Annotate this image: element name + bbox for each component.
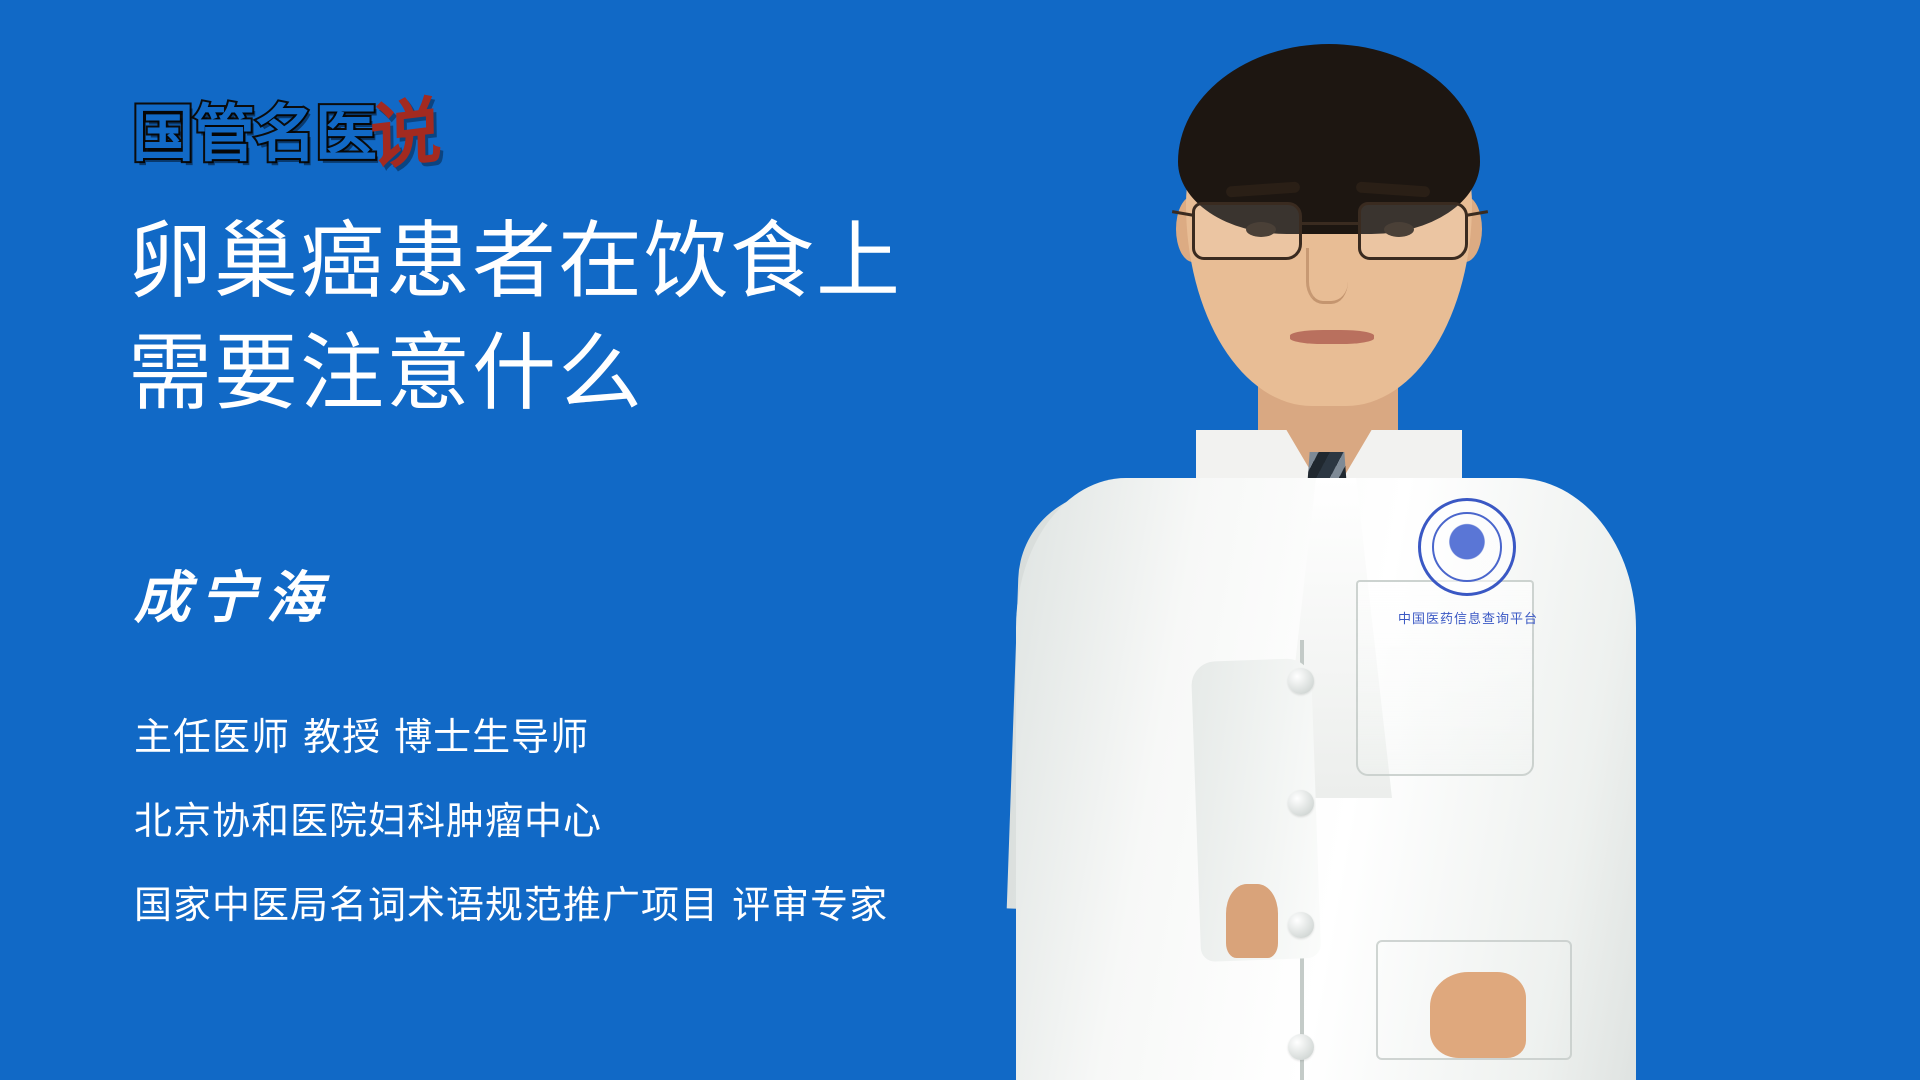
hand-right: [1430, 972, 1526, 1058]
lens-right: [1358, 202, 1468, 260]
brand-logo-accent-char: 说: [370, 98, 443, 169]
coat-button: [1288, 1034, 1314, 1060]
coat-emblem-inner: [1432, 512, 1502, 582]
mouth: [1290, 330, 1374, 344]
nose: [1306, 248, 1348, 304]
hand-left: [1226, 884, 1278, 958]
lens-left: [1192, 202, 1302, 260]
doctor-portrait-photo: 中国医药信息查询平台: [1000, 0, 1660, 1080]
glasses-bridge: [1302, 222, 1358, 225]
doctor-credentials: 主任医师 教授 博士生导师 北京协和医院妇科肿瘤中心 国家中医局名词术语规范推广…: [134, 718, 888, 924]
headline-line-1: 卵巢癌患者在饮食上: [128, 206, 902, 318]
brand-logo-main-text: 国管名医: [132, 103, 376, 165]
doctor-name: 成宁海: [134, 570, 332, 626]
coat-badge-text: 中国医药信息查询平台: [1382, 608, 1554, 627]
coat-emblem-icon: [1418, 498, 1516, 596]
headline-line-2: 需要注意什么: [128, 318, 902, 430]
coat-button: [1288, 790, 1314, 816]
page-title: 卵巢癌患者在饮食上 需要注意什么: [128, 206, 902, 429]
brand-logo: 国管名医 说: [132, 96, 442, 172]
credential-line-project: 国家中医局名词术语规范推广项目 评审专家: [134, 886, 888, 924]
coat-button: [1288, 912, 1314, 938]
credential-line-title: 主任医师 教授 博士生导师: [134, 718, 888, 756]
coat-button: [1288, 668, 1314, 694]
credential-line-affiliation: 北京协和医院妇科肿瘤中心: [134, 802, 888, 840]
video-cover-slide: 国管名医 说 卵巢癌患者在饮食上 需要注意什么 成宁海 主任医师 教授 博士生导…: [0, 0, 1920, 1080]
